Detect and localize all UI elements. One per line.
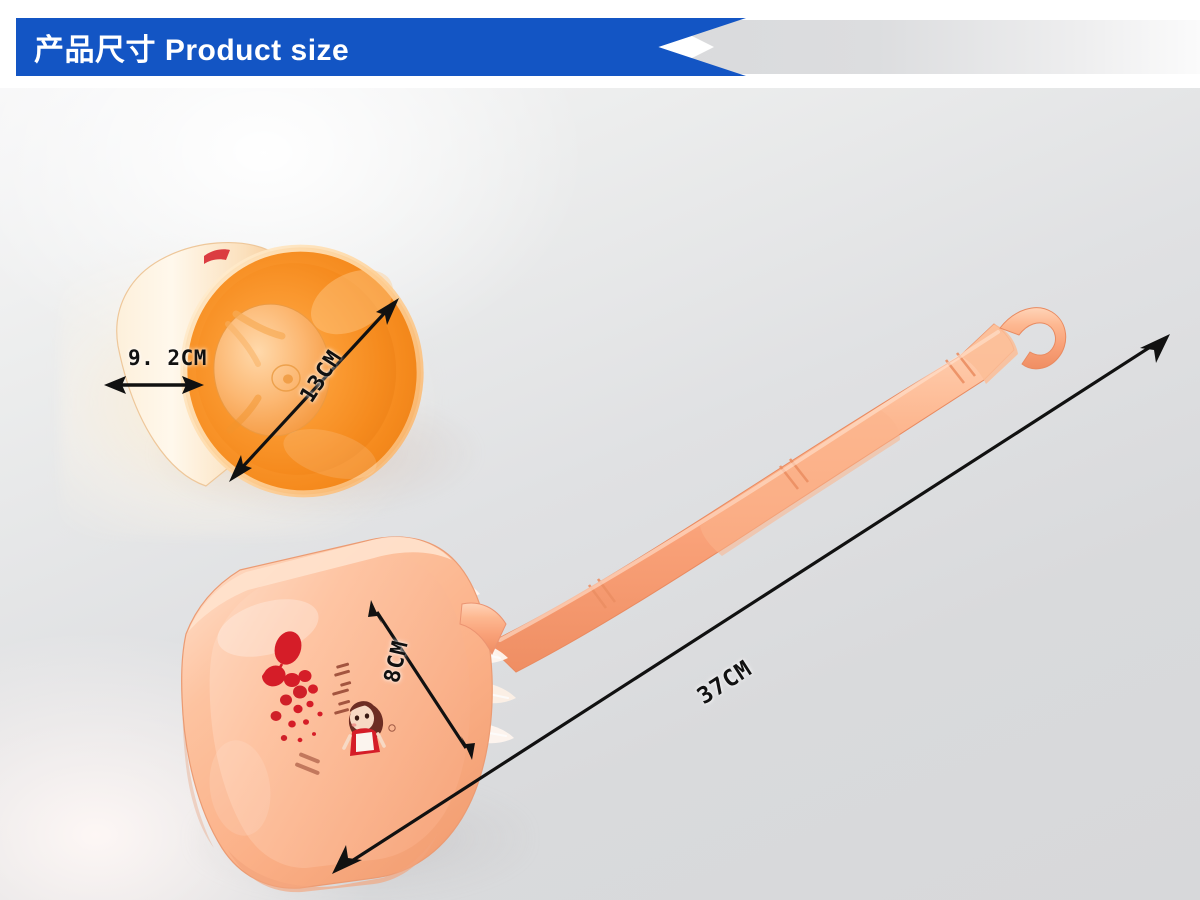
page-title: 产品尺寸 Product size	[34, 25, 349, 69]
product-size-infographic: 产品尺寸 Product size	[0, 0, 1200, 900]
product-illustration	[0, 88, 1200, 900]
section-banner: 产品尺寸 Product size	[0, 18, 1200, 76]
holder-cup	[117, 231, 438, 511]
dimension-label-9-2cm: 9. 2CM	[128, 346, 207, 370]
brush-handle	[487, 308, 1066, 672]
banner-gray-tail	[660, 20, 1200, 74]
product-photo: 9. 2CM 13CM 8CM 37CM	[0, 88, 1200, 900]
